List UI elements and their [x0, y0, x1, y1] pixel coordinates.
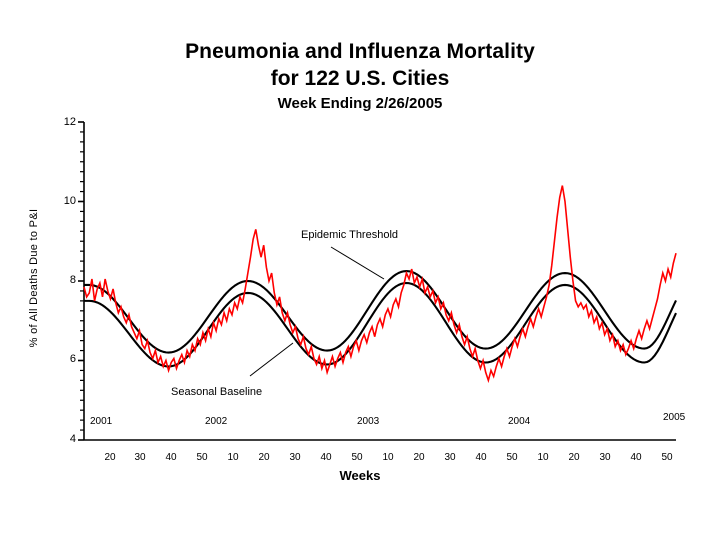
leader-line-baseline — [250, 343, 293, 376]
annotation-leader-lines — [250, 247, 384, 376]
chart-canvas: Pneumonia and Influenza Mortality for 12… — [0, 0, 720, 540]
leader-line-epidemic — [331, 247, 384, 279]
y-axis-major-ticks — [78, 122, 84, 440]
axis-lines — [84, 122, 676, 440]
seasonal-baseline-curve — [84, 283, 676, 366]
plot-area — [0, 0, 720, 540]
